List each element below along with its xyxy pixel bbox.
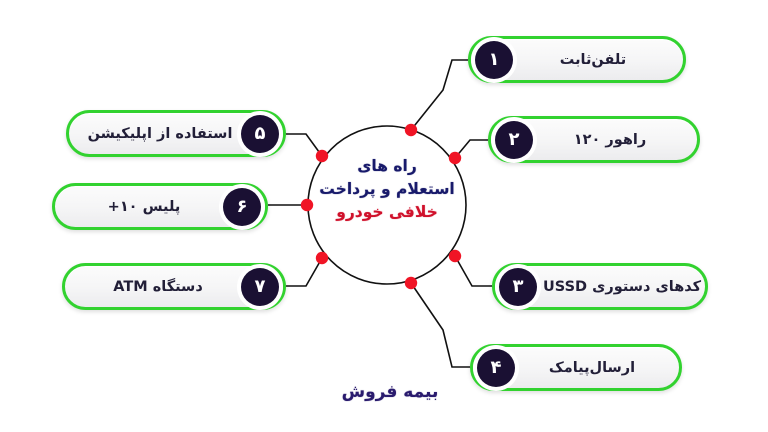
hub-title: راه های استعلام و پرداخت خلافی خودرو xyxy=(297,155,477,224)
node-3-label: کدهای دستوری USSD xyxy=(537,279,707,295)
hub-title-line-3: خلافی خودرو xyxy=(297,201,477,224)
node-7-label: دستگاه ATM xyxy=(75,279,241,295)
infographic-canvas: راه های استعلام و پرداخت خلافی خودرو ۱ ت… xyxy=(0,0,768,432)
node-4-send-sms[interactable]: ۴ ارسال‌پیامک xyxy=(470,344,682,391)
node-4-label: ارسال‌پیامک xyxy=(515,360,669,376)
node-6-badge: ۶ xyxy=(223,188,261,226)
footer-caption: بیمه فروش xyxy=(300,382,480,402)
node-3-ussd-codes[interactable]: ۳ کدهای دستوری USSD xyxy=(492,263,708,310)
node-6-police-10-plus[interactable]: ۶ پلیس ۱۰+ xyxy=(52,183,268,230)
wire-to-node-4 xyxy=(411,283,470,367)
node-2-label: راهور ۱۲۰ xyxy=(533,132,687,148)
hub-title-line-1: راه های xyxy=(297,155,477,178)
hub-title-line-2: استعلام و پرداخت xyxy=(297,178,477,201)
node-2-rahvar-120[interactable]: ۲ راهور ۱۲۰ xyxy=(488,116,700,163)
node-5-label: استفاده از اپلیکیشن xyxy=(79,126,241,142)
node-4-badge: ۴ xyxy=(477,349,515,387)
node-5-badge: ۵ xyxy=(241,115,279,153)
node-1-label: تلفن‌ثابت xyxy=(513,52,673,68)
node-1-badge: ۱ xyxy=(475,41,513,79)
node-1-telephone[interactable]: ۱ تلفن‌ثابت xyxy=(468,36,686,83)
node-7-badge: ۷ xyxy=(241,268,279,306)
wire-to-node-1 xyxy=(411,60,468,130)
node-5-use-application[interactable]: ۵ استفاده از اپلیکیشن xyxy=(66,110,286,157)
node-2-badge: ۲ xyxy=(495,121,533,159)
hub-node: راه های استعلام و پرداخت خلافی خودرو xyxy=(311,127,463,279)
node-3-badge: ۳ xyxy=(499,268,537,306)
node-6-label: پلیس ۱۰+ xyxy=(65,199,223,215)
node-7-atm-machine[interactable]: ۷ دستگاه ATM xyxy=(62,263,286,310)
